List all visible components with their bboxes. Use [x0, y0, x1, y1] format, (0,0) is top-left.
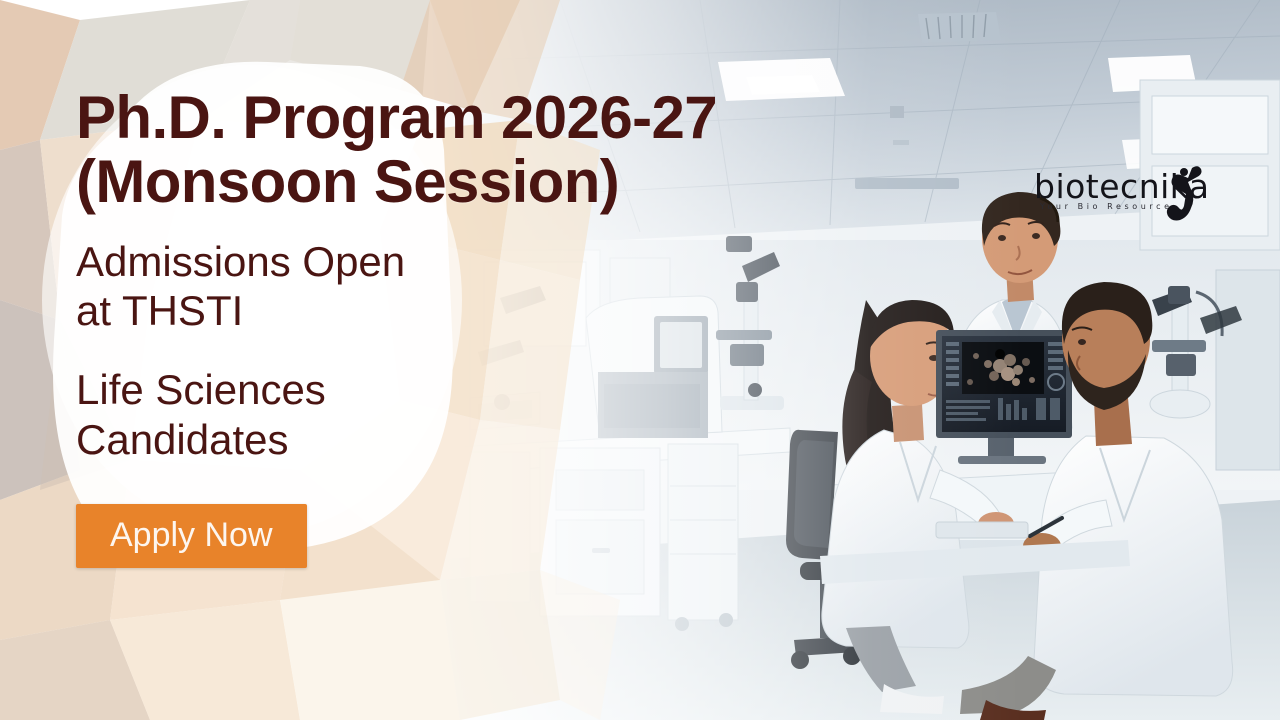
banner-content: Ph.D. Program 2026-27 (Monsoon Session) …	[76, 86, 916, 568]
page-title: Ph.D. Program 2026-27 (Monsoon Session)	[76, 86, 916, 213]
logo-tagline: Your Bio Resource	[1040, 202, 1173, 211]
human-figure-icon	[1162, 164, 1206, 222]
subheading-eligibility: Life Sciences Candidates	[76, 365, 916, 463]
apply-now-button[interactable]: Apply Now	[76, 504, 307, 568]
promotional-banner: Ph.D. Program 2026-27 (Monsoon Session) …	[0, 0, 1280, 720]
biotecnika-logo[interactable]: biotecnika Your Bio Resource	[1034, 166, 1230, 228]
subheading-admissions: Admissions Open at THSTI	[76, 237, 916, 335]
